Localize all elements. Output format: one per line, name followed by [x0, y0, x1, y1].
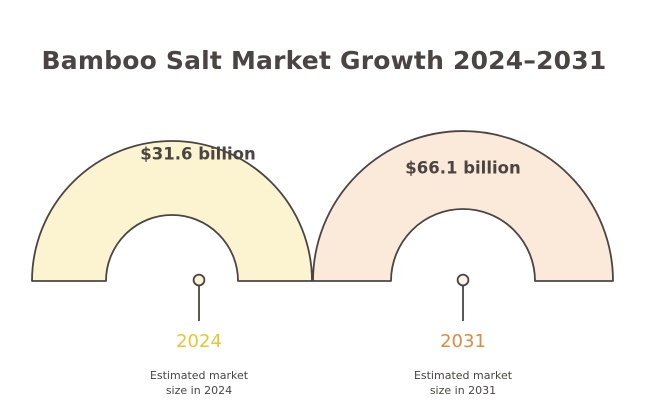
arc-value-label-2031: $66.1 billion	[405, 159, 520, 178]
chart-root: Bamboo Salt Market Growth 2024–2031 $31.…	[0, 0, 648, 415]
caption-2031-line2: size in 2031	[363, 383, 563, 398]
arc-chart-svg: $31.6 billion $66.1 billion	[0, 0, 648, 415]
caption-2024-line2: size in 2024	[99, 383, 299, 398]
caption-2031: Estimated market size in 2031	[363, 368, 563, 398]
year-label-2031: 2031	[373, 331, 553, 352]
arc-segment-2031[interactable]	[313, 131, 613, 281]
caption-2031-line1: Estimated market	[363, 368, 563, 383]
pin-marker-icon-2024	[194, 275, 205, 321]
arc-value-label-2024: $31.6 billion	[140, 145, 255, 164]
caption-2024-line1: Estimated market	[99, 368, 299, 383]
year-label-2024: 2024	[109, 331, 289, 352]
pin-marker-icon-2031	[458, 275, 469, 321]
caption-2024: Estimated market size in 2024	[99, 368, 299, 398]
